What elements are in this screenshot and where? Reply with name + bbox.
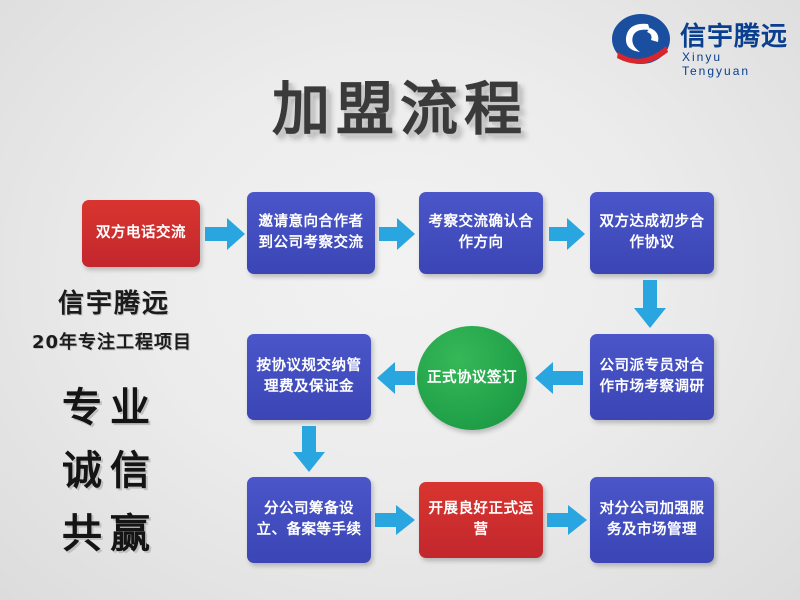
arrow-n9-n10 xyxy=(547,505,587,535)
arrow-n5-n6 xyxy=(535,362,583,394)
brand-subtitle: 20年专注工程项目 xyxy=(32,328,192,354)
arrow-n3-n4 xyxy=(549,218,585,250)
arrow-n6-n7 xyxy=(377,362,415,394)
flow-node-n7[interactable]: 按协议规交纳管理费及保证金 xyxy=(247,334,371,420)
page-title: 加盟流程 xyxy=(0,62,800,146)
flow-node-n2[interactable]: 邀请意向合作者到公司考察交流 xyxy=(247,192,375,274)
flow-node-n9[interactable]: 开展良好正式运营 xyxy=(419,482,543,558)
flow-node-n3[interactable]: 考察交流确认合作方向 xyxy=(419,192,543,274)
arrow-n8-n9 xyxy=(375,505,415,535)
flow-node-n4[interactable]: 双方达成初步合作协议 xyxy=(590,192,714,274)
arrow-n1-n2 xyxy=(205,218,245,250)
arrow-n2-n3 xyxy=(379,218,415,250)
flow-node-n8[interactable]: 分公司筹备设立、备案等手续 xyxy=(247,477,371,563)
arrow-n7-n8 xyxy=(293,426,325,472)
logo-name-cn: 信宇腾远 xyxy=(680,16,788,53)
slogan-1: 专业 xyxy=(62,375,158,433)
flow-node-n1[interactable]: 双方电话交流 xyxy=(82,200,200,267)
arrow-n4-n5 xyxy=(634,280,666,328)
slide-canvas: 信宇腾远 Xinyu Tengyuan 加盟流程 信宇腾远 20年专注工程项目 … xyxy=(0,0,800,600)
flow-node-n5[interactable]: 公司派专员对合作市场考察调研 xyxy=(590,334,714,420)
flow-node-n10[interactable]: 对分公司加强服务及市场管理 xyxy=(590,477,714,563)
brand-name: 信宇腾远 xyxy=(58,283,170,320)
slogan-3: 共赢 xyxy=(62,501,158,559)
flow-node-n6[interactable]: 正式协议签订 xyxy=(417,326,527,430)
slogan-2: 诚信 xyxy=(62,438,158,496)
